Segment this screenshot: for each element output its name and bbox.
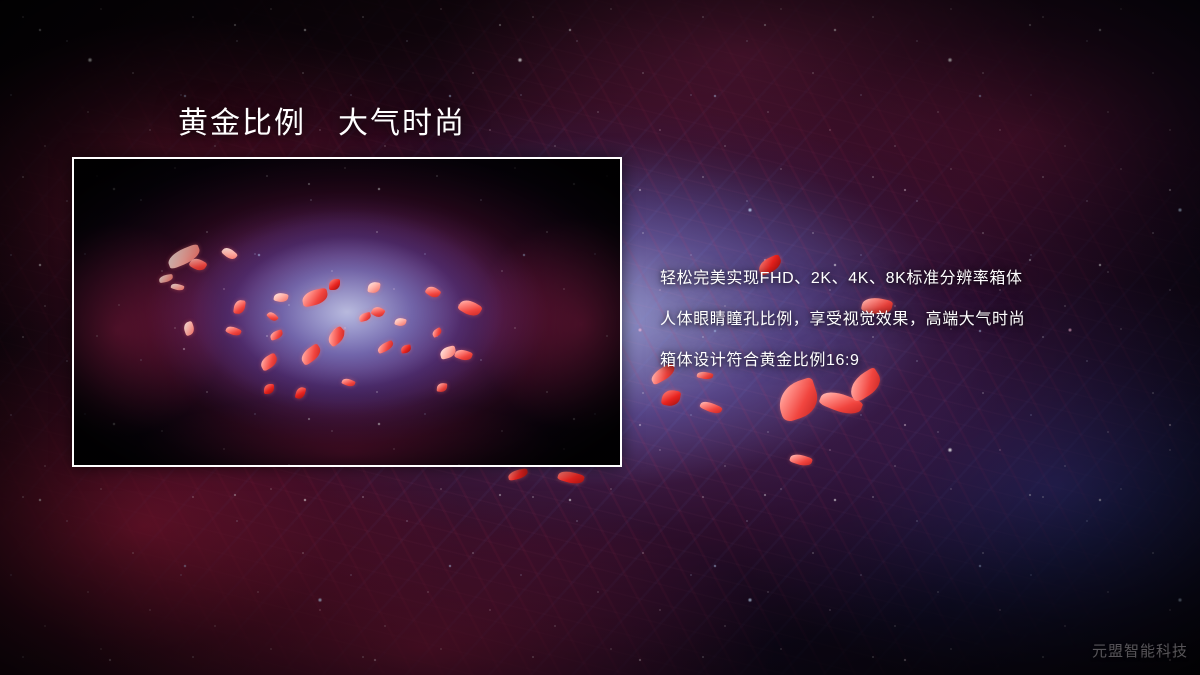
flower-petal-icon — [699, 399, 723, 416]
flower-petal-icon — [557, 469, 585, 487]
flower-petal-icon — [773, 377, 822, 424]
flower-petal-icon — [507, 468, 528, 481]
feature-line-3: 箱体设计符合黄金比例16:9 — [660, 340, 1160, 381]
feature-description: 轻松完美实现FHD、2K、4K、8K标准分辨率箱体 人体眼睛瞳孔比例，享受视觉效… — [660, 258, 1160, 381]
framed-image-panel — [72, 157, 622, 467]
watermark: 元盟智能科技 — [1092, 640, 1188, 661]
feature-line-2: 人体眼睛瞳孔比例，享受视觉效果，高端大气时尚 — [660, 299, 1160, 340]
flower-petal-icon — [661, 389, 682, 408]
flower-petal-icon — [789, 452, 813, 468]
feature-line-1: 轻松完美实现FHD、2K、4K、8K标准分辨率箱体 — [660, 258, 1160, 299]
framed-image-vignette — [74, 159, 620, 465]
page-title: 黄金比例 大气时尚 — [178, 98, 466, 142]
slide-canvas: 黄金比例 大气时尚 轻松完美实现FHD、2K、4K、8K标准分辨率箱体 人体眼睛… — [0, 0, 1200, 675]
framed-image-inner — [74, 159, 620, 465]
